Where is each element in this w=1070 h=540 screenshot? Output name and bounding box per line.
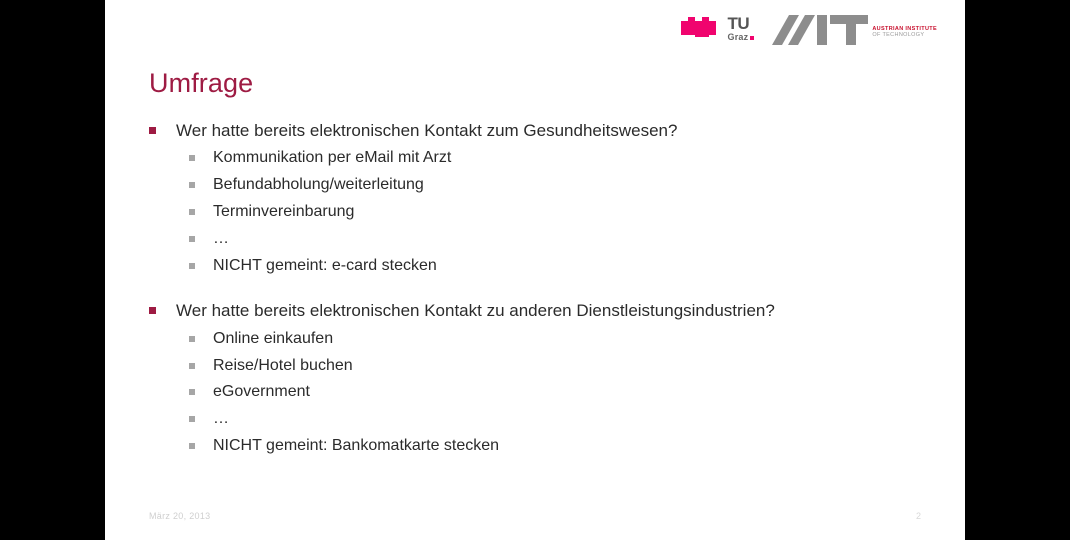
slide-body: Wer hatte bereits elektronischen Kontakt… xyxy=(149,120,929,457)
bullet-level2-label: eGovernment xyxy=(213,382,929,403)
bullet-level1: Wer hatte bereits elektronischen Kontakt… xyxy=(149,300,929,322)
bullet-level2-label: NICHT gemeint: Bankomatkarte stecken xyxy=(213,436,929,457)
tu-graz-graz-row: Graz xyxy=(728,33,755,42)
sub-bullet-marker-icon xyxy=(189,443,195,449)
bullet-level2-label: Kommunikation per eMail mit Arzt xyxy=(213,148,929,169)
bullet-level2-label: NICHT gemeint: e-card stecken xyxy=(213,256,929,277)
presentation-viewer: TU Graz AUSTRIAN INSTITUTE OF TECHNOLO xyxy=(0,0,1070,540)
sub-bullet-marker-icon xyxy=(189,336,195,342)
sub-bullet-marker-icon xyxy=(189,389,195,395)
bullet-level2-label: Befundabholung/weiterleitung xyxy=(213,175,929,196)
sub-bullet-marker-icon xyxy=(189,155,195,161)
bullet-level2: … xyxy=(189,409,929,430)
sub-bullet-marker-icon xyxy=(189,363,195,369)
bullet-marker-icon xyxy=(149,307,156,314)
footer-page-number: 2 xyxy=(916,511,921,521)
bullet-level2: NICHT gemeint: e-card stecken xyxy=(189,256,929,277)
ait-wordmark-icon xyxy=(772,15,868,45)
page-title: Umfrage xyxy=(149,68,253,99)
ait-tagline-line2: OF TECHNOLOGY xyxy=(872,33,937,39)
tu-graz-dot-icon xyxy=(750,36,754,40)
tu-graz-wordmark: TU Graz xyxy=(728,14,755,42)
bullet-level2: eGovernment xyxy=(189,382,929,403)
bullet-level1-label: Wer hatte bereits elektronischen Kontakt… xyxy=(176,300,929,322)
tu-graz-logo: TU Graz xyxy=(681,14,755,42)
bullet-group: Wer hatte bereits elektronischen Kontakt… xyxy=(149,300,929,456)
bullet-level2: Kommunikation per eMail mit Arzt xyxy=(189,148,929,169)
bullet-level2-label: Online einkaufen xyxy=(213,329,929,350)
sub-bullet-marker-icon xyxy=(189,263,195,269)
sub-bullet-marker-icon xyxy=(189,236,195,242)
bullet-level2: Reise/Hotel buchen xyxy=(189,356,929,377)
bullet-level2: Online einkaufen xyxy=(189,329,929,350)
tu-graz-mark-icon xyxy=(681,15,725,41)
bullet-group: Wer hatte bereits elektronischen Kontakt… xyxy=(149,120,929,276)
sub-bullet-marker-icon xyxy=(189,209,195,215)
bullet-level2-label: Terminvereinbarung xyxy=(213,202,929,223)
footer-date: März 20, 2013 xyxy=(149,511,210,521)
bullet-level2-label: Reise/Hotel buchen xyxy=(213,356,929,377)
ait-logo: AUSTRIAN INSTITUTE OF TECHNOLOGY xyxy=(772,14,937,45)
sub-bullet-marker-icon xyxy=(189,416,195,422)
sub-bullet-marker-icon xyxy=(189,182,195,188)
slide-canvas: TU Graz AUSTRIAN INSTITUTE OF TECHNOLO xyxy=(105,0,965,540)
bullet-level2: Befundabholung/weiterleitung xyxy=(189,175,929,196)
bullet-level2: Terminvereinbarung xyxy=(189,202,929,223)
tu-graz-graz-text: Graz xyxy=(728,33,749,42)
bullet-level2-label: … xyxy=(213,409,929,430)
ait-tagline: AUSTRIAN INSTITUTE OF TECHNOLOGY xyxy=(872,15,937,39)
bullet-level2-label: … xyxy=(213,229,929,250)
bullet-level1: Wer hatte bereits elektronischen Kontakt… xyxy=(149,120,929,142)
tu-graz-tu-text: TU xyxy=(728,15,750,32)
bullet-marker-icon xyxy=(149,127,156,134)
logo-bar: TU Graz AUSTRIAN INSTITUTE OF TECHNOLO xyxy=(681,14,937,45)
bullet-level2: … xyxy=(189,229,929,250)
bullet-level1-label: Wer hatte bereits elektronischen Kontakt… xyxy=(176,120,929,142)
bullet-level2: NICHT gemeint: Bankomatkarte stecken xyxy=(189,436,929,457)
